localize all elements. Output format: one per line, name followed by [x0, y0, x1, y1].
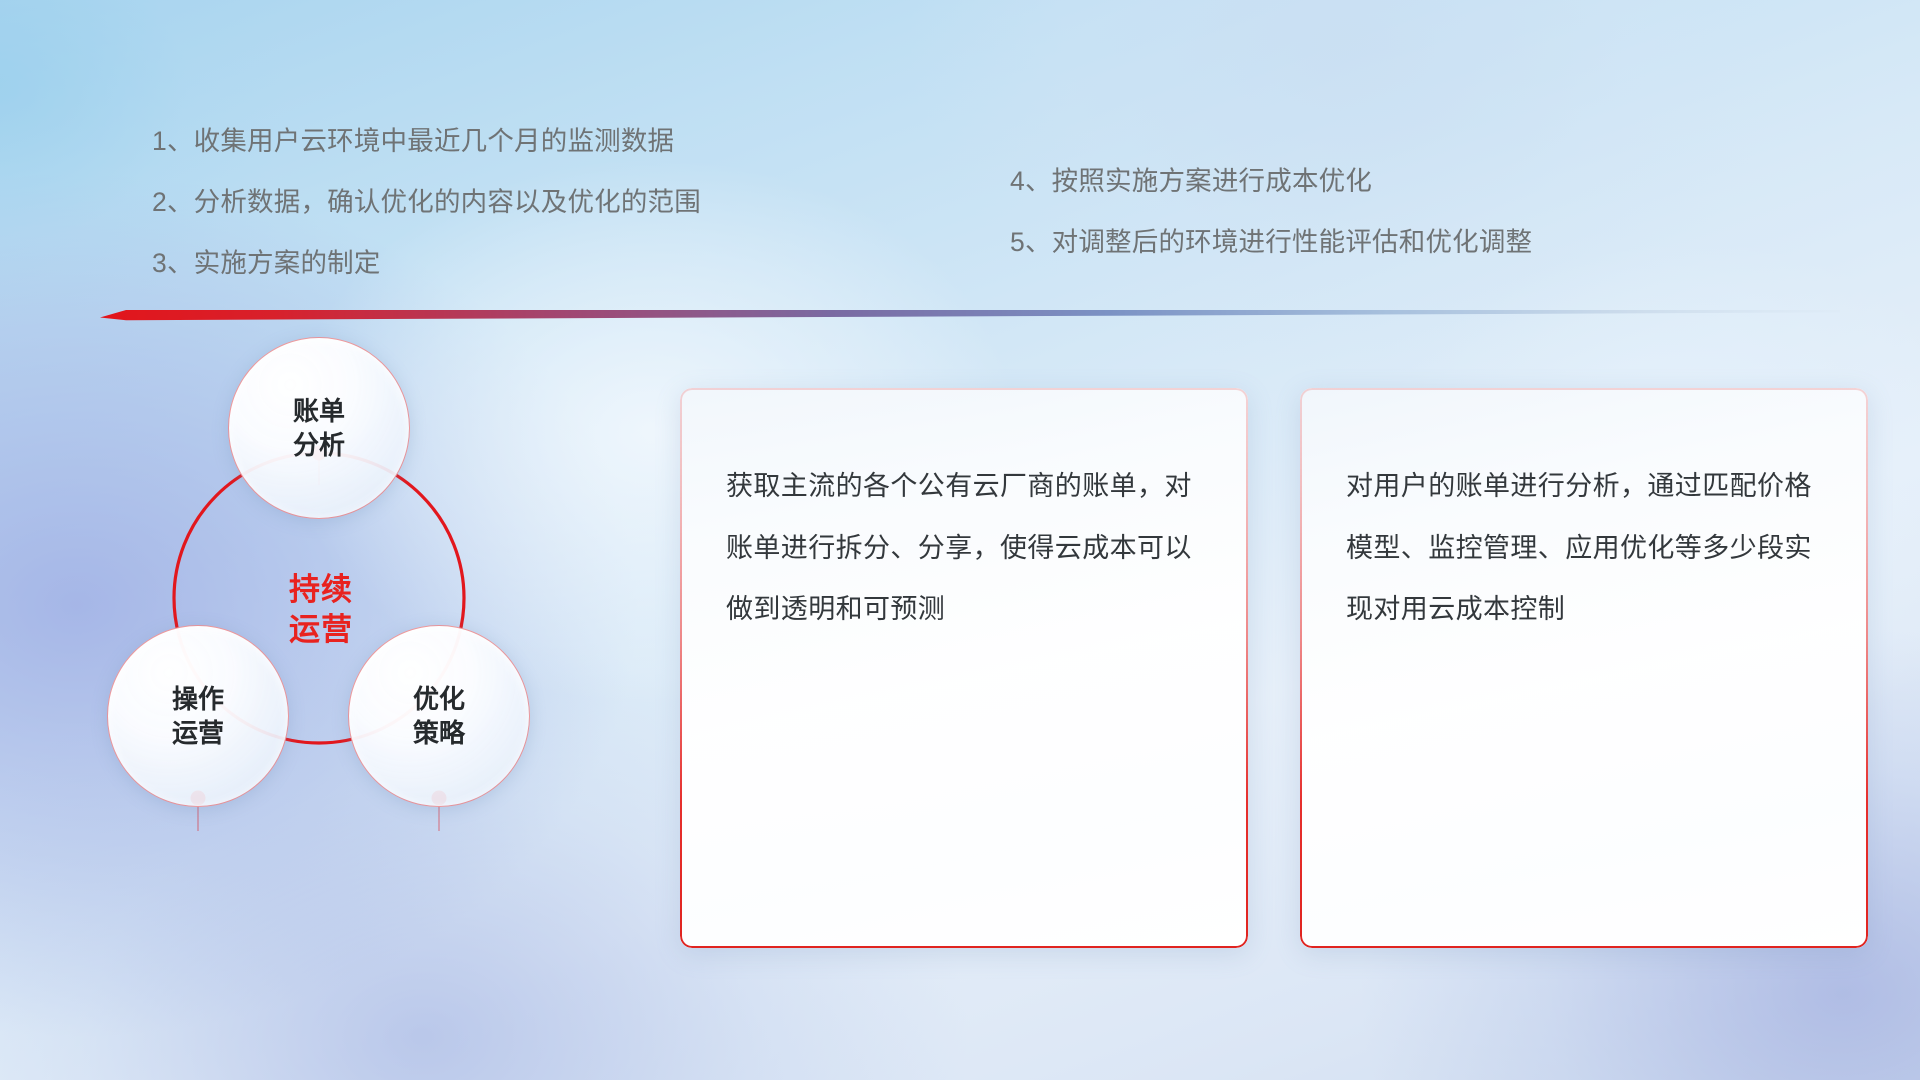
venn-center-label-line2: 运营: [289, 610, 353, 650]
venn-bubble-label-line1: 优化: [413, 682, 465, 716]
venn-bubble-label-line2: 分析: [293, 428, 345, 462]
venn-center-label: 持续 运营: [246, 560, 396, 660]
feature-card-multicloud-billing[interactable]: 获取主流的各个公有云厂商的账单，对账单进行拆分、分享，使得云成本可以做到透明和可…: [680, 388, 1248, 948]
step-item-5: 5、对调整后的环境进行性能评估和优化调整: [1010, 229, 1532, 256]
venn-bubble-label-line2: 运营: [172, 716, 224, 750]
section-divider: [100, 304, 1840, 322]
feature-card-cloud-cost-optimization[interactable]: 对用户的账单进行分析，通过匹配价格模型、监控管理、应用优化等多少段实现对用云成本…: [1300, 388, 1868, 948]
venn-bubble-label-line2: 策略: [413, 716, 465, 750]
divider-shape: [100, 304, 1840, 322]
continuous-operation-diagram: 账单 分析 操作 运营 优化 策略 持续 运营: [95, 345, 655, 960]
steps-list-left: 1、收集用户云环境中最近几个月的监测数据 2、分析数据，确认优化的内容以及优化的…: [152, 128, 701, 277]
venn-bubble-label-line1: 操作: [172, 682, 224, 716]
venn-bubble-bill-analysis[interactable]: 账单 分析: [228, 337, 410, 519]
steps-list-right: 4、按照实施方案进行成本优化 5、对调整后的环境进行性能评估和优化调整: [1010, 168, 1532, 256]
venn-center-label-line1: 持续: [289, 570, 353, 610]
step-item-4: 4、按照实施方案进行成本优化: [1010, 168, 1532, 195]
venn-bubble-label-line1: 账单: [293, 394, 345, 428]
step-item-2: 2、分析数据，确认优化的内容以及优化的范围: [152, 189, 701, 216]
card-description: 对用户的账单进行分析，通过匹配价格模型、监控管理、应用优化等多少段实现对用云成本…: [1346, 456, 1828, 641]
card-description: 获取主流的各个公有云厂商的账单，对账单进行拆分、分享，使得云成本可以做到透明和可…: [726, 456, 1208, 641]
step-item-1: 1、收集用户云环境中最近几个月的监测数据: [152, 128, 701, 155]
step-item-3: 3、实施方案的制定: [152, 250, 701, 277]
